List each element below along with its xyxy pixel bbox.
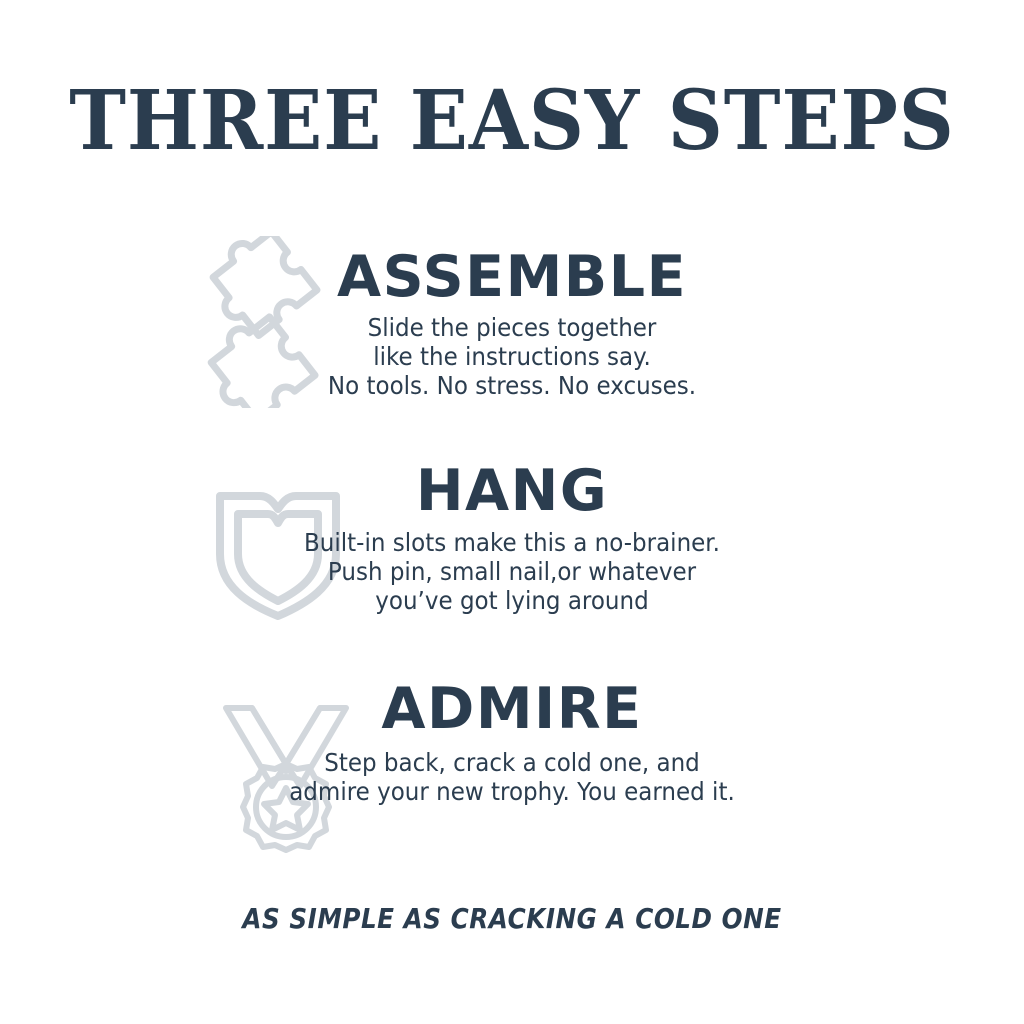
step-item-admire: ADMIRE Step back, crack a cold one, and … bbox=[0, 668, 1024, 886]
step-heading-assemble: ASSEMBLE bbox=[0, 248, 1024, 306]
step-body-hang: Built-in slots make this a no-brainer. P… bbox=[41, 520, 983, 615]
step-body-line: you’ve got lying around bbox=[41, 586, 983, 615]
step-body-line: Push pin, small nail,or whatever bbox=[41, 557, 983, 586]
step-body-line: Built-in slots make this a no-brainer. bbox=[41, 528, 983, 557]
page-title: THREE EASY STEPS bbox=[36, 78, 988, 164]
footer-tagline: AS SIMPLE AS CRACKING A COLD ONE bbox=[61, 902, 962, 936]
step-item-assemble: ASSEMBLE Slide the pieces together like … bbox=[0, 232, 1024, 450]
step-text-hang: HANG Built-in slots make this a no-brain… bbox=[0, 450, 1024, 615]
step-body-line: Slide the pieces together bbox=[41, 313, 983, 342]
step-heading-admire: ADMIRE bbox=[0, 680, 1024, 738]
steps-list: ASSEMBLE Slide the pieces together like … bbox=[0, 232, 1024, 886]
step-body-assemble: Slide the pieces together like the instr… bbox=[41, 306, 983, 400]
step-body-line: like the instructions say. bbox=[41, 342, 983, 371]
step-body-line: admire your new trophy. You earned it. bbox=[41, 777, 983, 806]
step-body-line: Step back, crack a cold one, and bbox=[41, 748, 983, 777]
step-body-line: No tools. No stress. No excuses. bbox=[41, 371, 983, 400]
step-text-admire: ADMIRE Step back, crack a cold one, and … bbox=[0, 668, 1024, 806]
poster-canvas: THREE EASY STEPS ASSEMBLE Slide the piec… bbox=[0, 0, 1024, 1024]
step-heading-hang: HANG bbox=[0, 462, 1024, 520]
step-item-hang: HANG Built-in slots make this a no-brain… bbox=[0, 450, 1024, 668]
step-body-admire: Step back, crack a cold one, and admire … bbox=[41, 738, 983, 806]
step-text-assemble: ASSEMBLE Slide the pieces together like … bbox=[0, 232, 1024, 400]
